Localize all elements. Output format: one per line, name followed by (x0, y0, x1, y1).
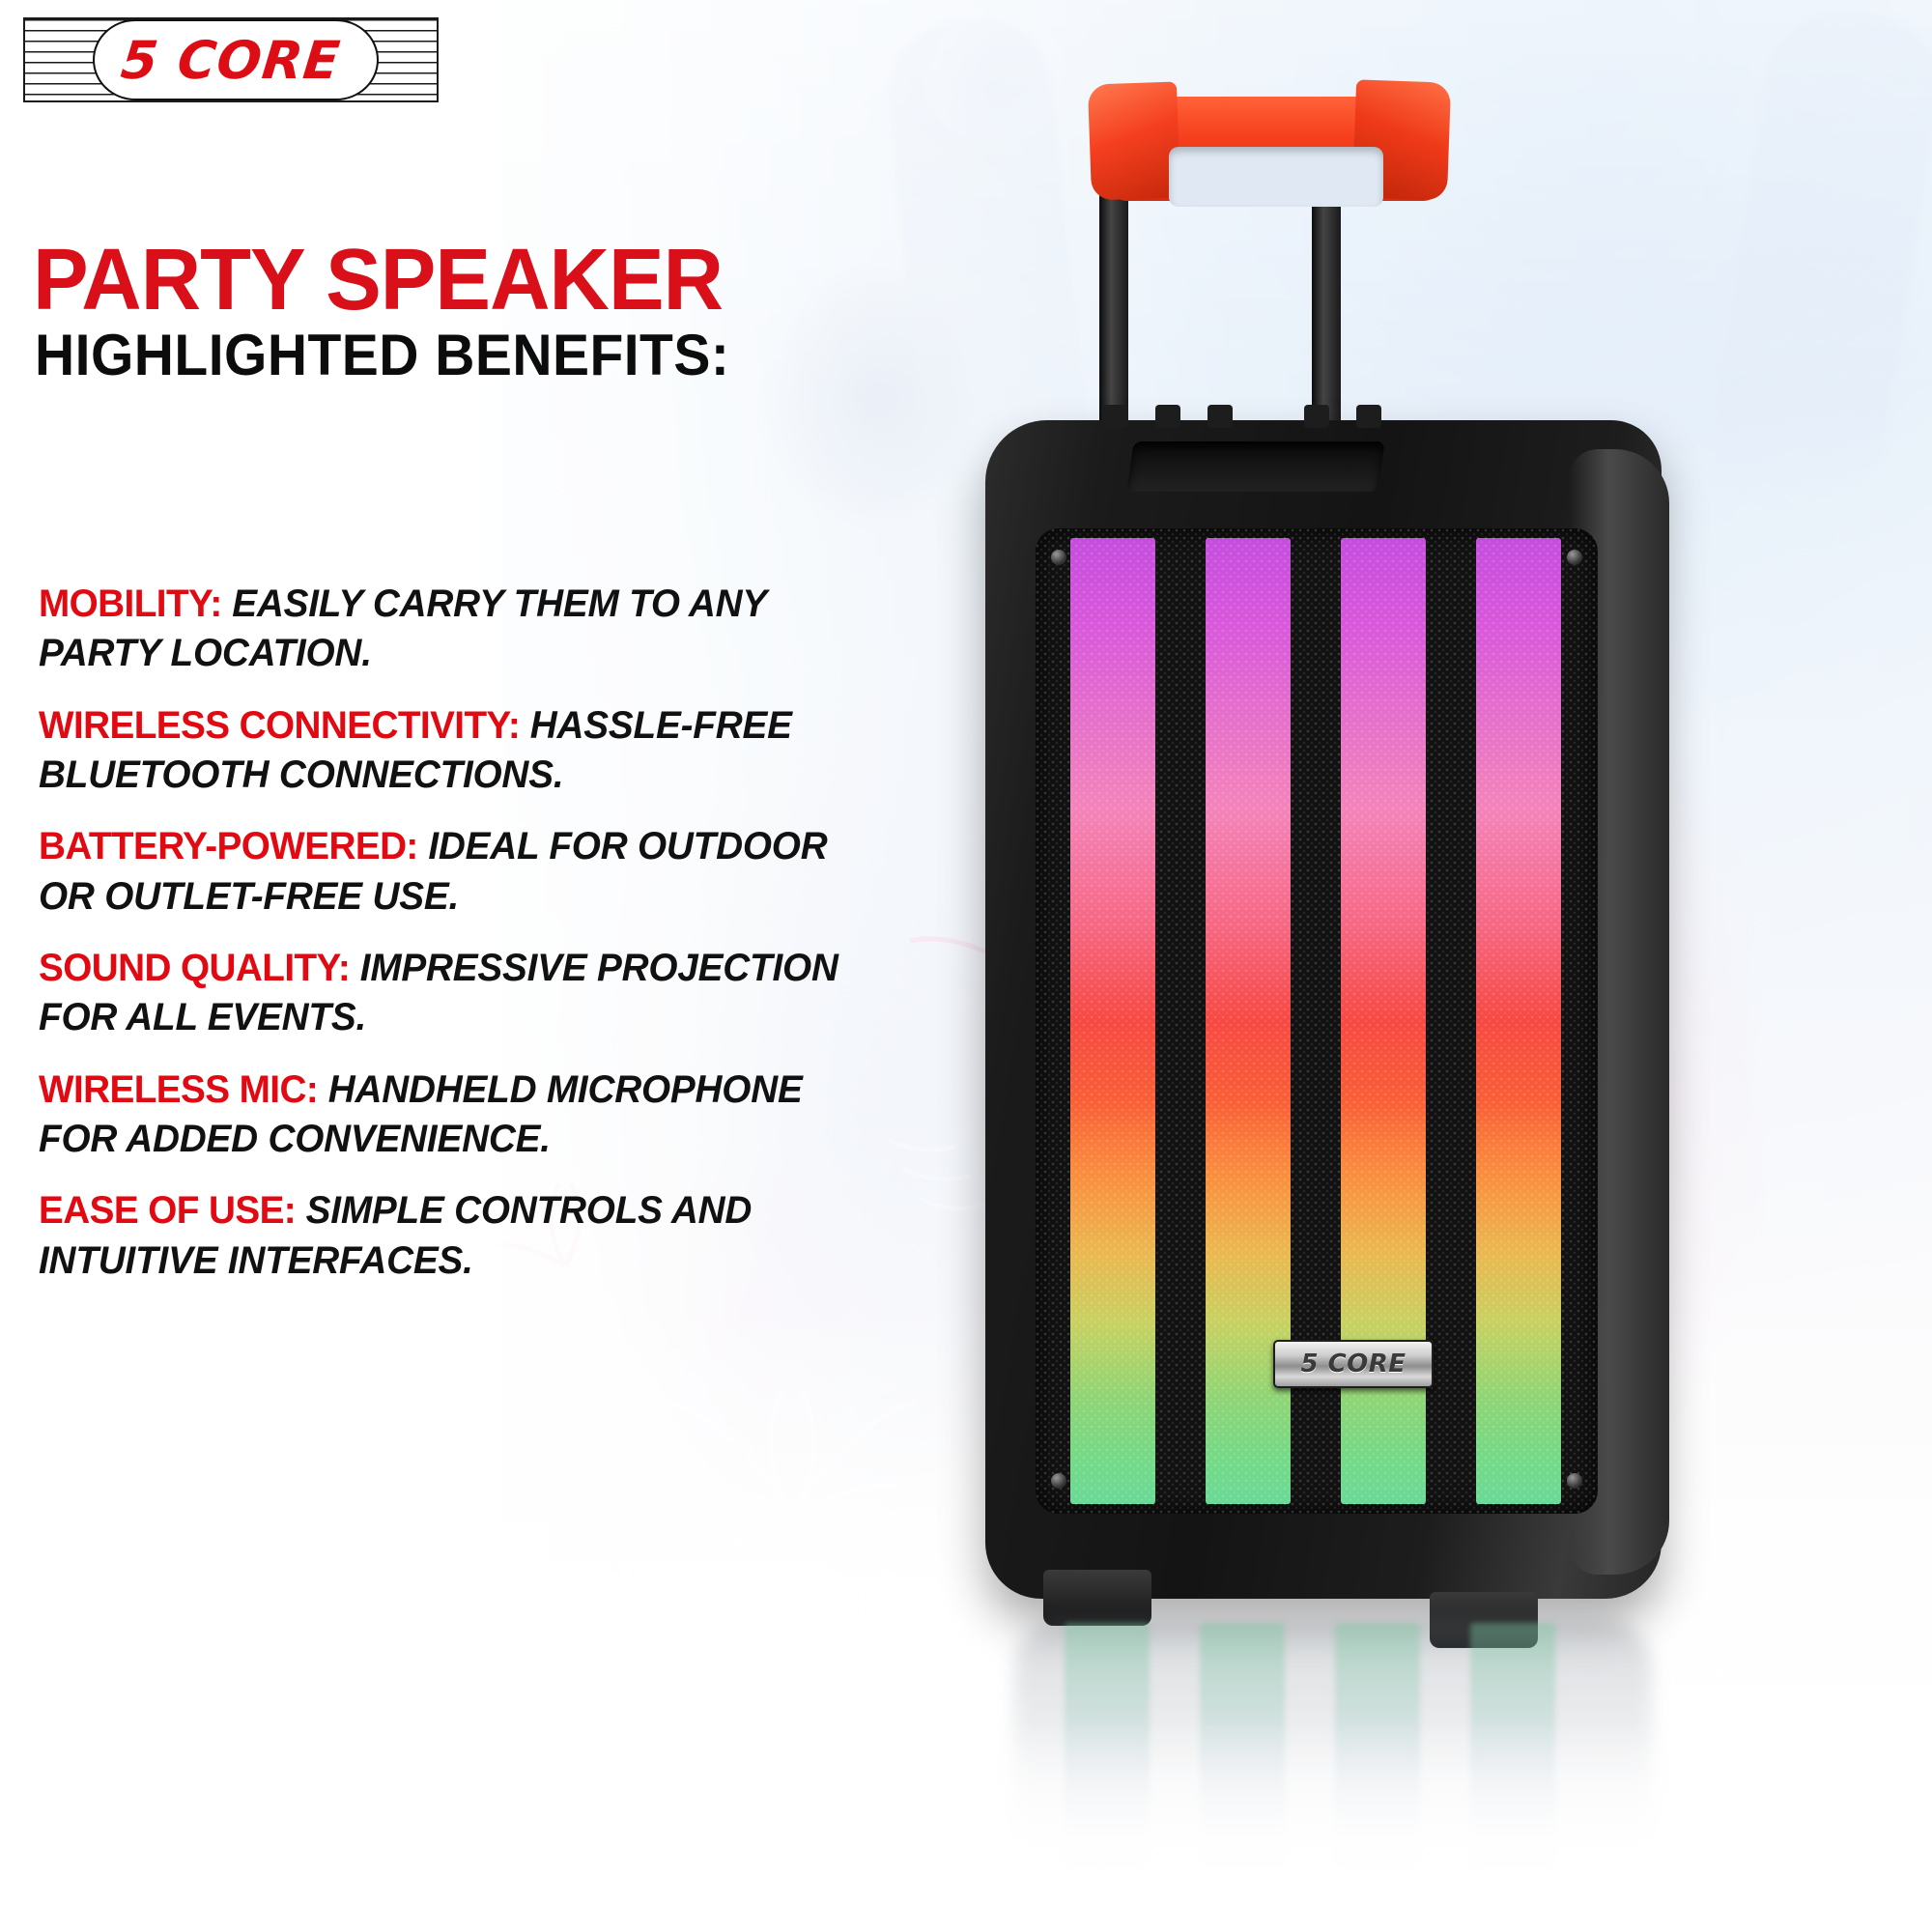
rod-mount-notch (1304, 405, 1329, 428)
benefit-item: BATTERY-POWERED: IDEAL FOR OUTDOOR OR OU… (39, 822, 853, 922)
top-carry-slot (1126, 441, 1384, 492)
rod-mount-notch (1155, 405, 1180, 428)
benefit-label: BATTERY-POWERED: (39, 825, 418, 867)
product-badge-text: 5 CORE (1300, 1350, 1406, 1378)
benefit-label: WIRELESS MIC: (39, 1068, 318, 1111)
speaker-foot (1043, 1570, 1151, 1626)
benefit-item: WIRELESS MIC: HANDHELD MICROPHONE FOR AD… (39, 1065, 853, 1165)
benefit-item: EASE OF USE: SIMPLE CONTROLS AND INTUITI… (39, 1186, 853, 1286)
product-badge: 5 CORE (1273, 1340, 1434, 1388)
grille-screw (1567, 550, 1582, 565)
brand-logo: 5 CORE (23, 17, 439, 102)
benefit-label: SOUND QUALITY: (39, 947, 350, 989)
trolley-handle-left-cap (1088, 81, 1180, 200)
product-speaker: 5 CORE (976, 77, 1729, 1816)
page-title: PARTY SPEAKER (33, 240, 723, 322)
trolley-handle-opening (1169, 147, 1383, 207)
benefit-item: WIRELESS CONNECTIVITY: HASSLE-FREE BLUET… (39, 701, 853, 801)
poster-canvas: 5 CORE PARTY SPEAKER HIGHLIGHTED BENEFIT… (0, 0, 1932, 1932)
speaker-cabinet: 5 CORE (985, 420, 1662, 1599)
rod-mount-notch (1207, 405, 1233, 428)
benefit-label: MOBILITY: (39, 582, 222, 625)
benefit-label: WIRELESS CONNECTIVITY: (39, 704, 520, 747)
speaker-grille: 5 CORE (1036, 528, 1598, 1514)
grille-screw (1567, 1473, 1582, 1489)
benefit-item: MOBILITY: EASILY CARRY THEM TO ANY PARTY… (39, 580, 853, 679)
benefits-list: MOBILITY: EASILY CARRY THEM TO ANY PARTY… (39, 580, 869, 1308)
logo-text: 5 CORE (18, 17, 442, 102)
rod-mount-notch (1103, 405, 1128, 428)
grille-screw (1051, 1473, 1066, 1489)
rod-mount-notch (1356, 405, 1381, 428)
led-light-bar (1070, 538, 1155, 1504)
benefit-label: EASE OF USE: (39, 1189, 296, 1232)
bottom-white-fade (0, 1719, 1932, 1932)
grille-screw (1051, 550, 1066, 565)
benefit-item: SOUND QUALITY: IMPRESSIVE PROJECTION FOR… (39, 944, 853, 1043)
page-subtitle: HIGHLIGHTED BENEFITS: (35, 327, 729, 384)
led-light-bar (1476, 538, 1561, 1504)
